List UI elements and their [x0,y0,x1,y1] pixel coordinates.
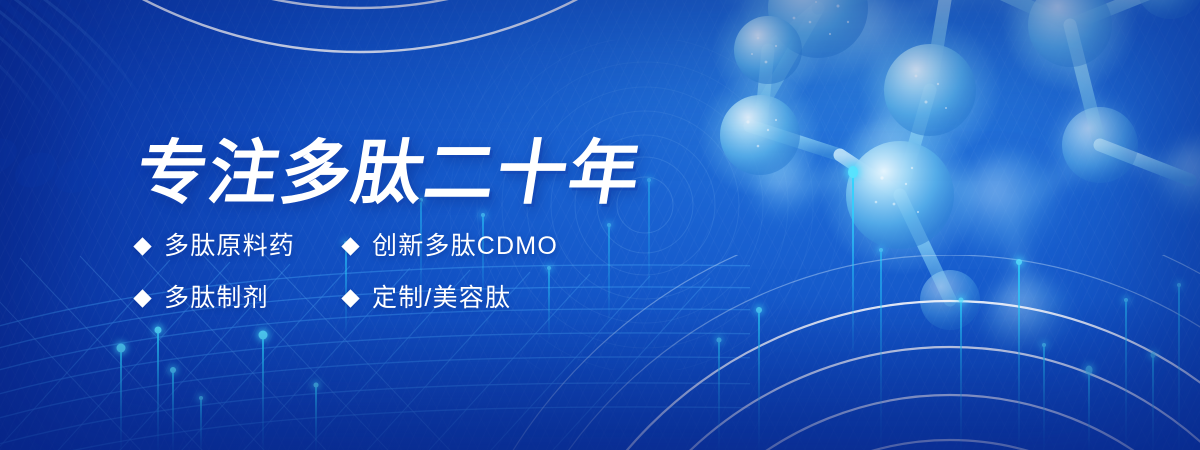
diamond-marker-icon [133,237,151,255]
banner-content: 专注多肽二十年 多肽原料药 创新多肽CDMO 多肽制剂 定制/美容肽 [0,0,1200,450]
list-item-api: 多肽原料药 [136,220,344,272]
diamond-marker-icon [341,237,359,255]
diamond-marker-icon [133,289,151,307]
feature-list: 多肽原料药 创新多肽CDMO 多肽制剂 定制/美容肽 [136,220,558,324]
promo-banner: 专注多肽二十年 多肽原料药 创新多肽CDMO 多肽制剂 定制/美容肽 [0,0,1200,450]
list-item-custom: 定制/美容肽 [344,272,558,324]
feature-label: 多肽制剂 [164,286,269,311]
feature-label: 创新多肽CDMO [372,234,558,259]
diamond-marker-icon [341,289,359,307]
page-title: 专注多肽二十年 [130,117,650,218]
list-item-cdmo: 创新多肽CDMO [344,220,558,272]
feature-label: 定制/美容肽 [372,286,511,311]
feature-label: 多肽原料药 [164,234,295,259]
list-item-formulation: 多肽制剂 [136,272,344,324]
